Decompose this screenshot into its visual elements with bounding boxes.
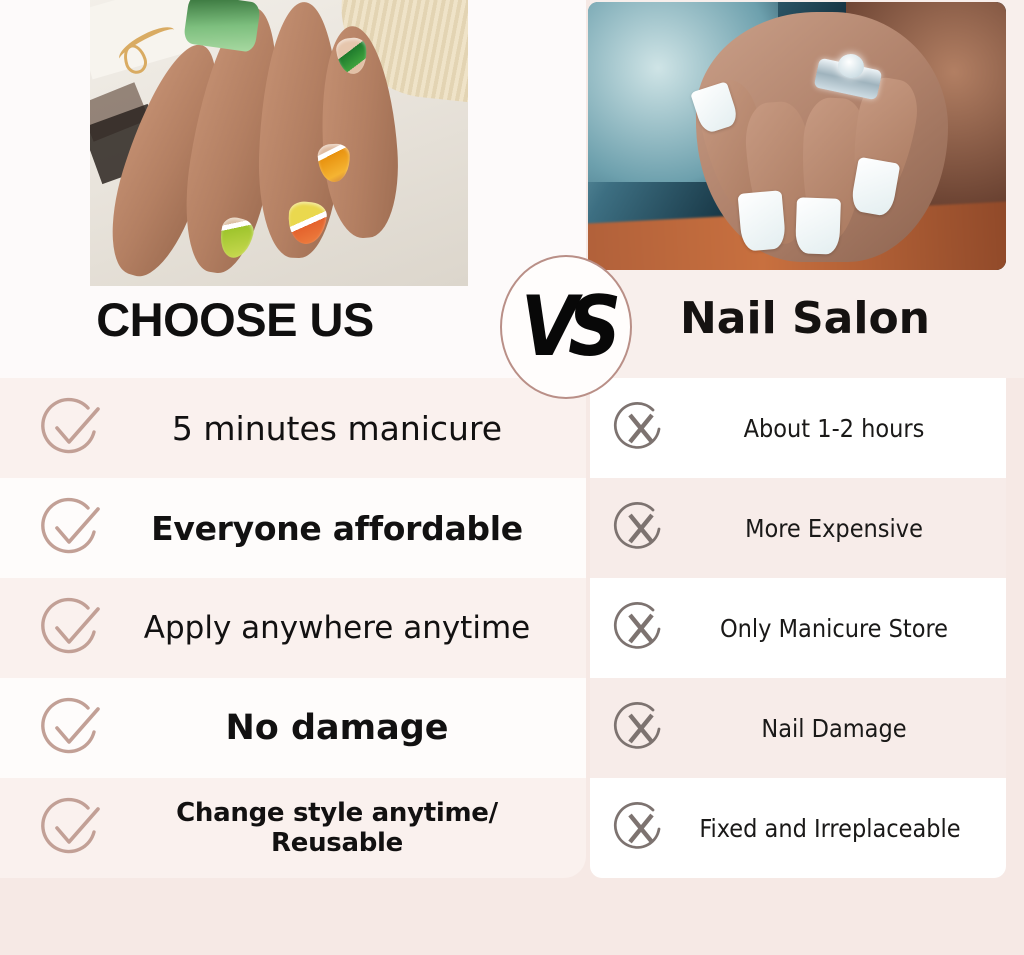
- list-item: Everyone affordable: [0, 478, 586, 578]
- list-item-label: 5 minutes manicure: [108, 409, 586, 448]
- x-circle-icon: [612, 799, 670, 857]
- list-item-label: No damage: [108, 708, 586, 748]
- check-circle-icon: [36, 792, 108, 864]
- cons-column: About 1-2 hours More Expensive Only Mani…: [590, 378, 1006, 878]
- x-circle-icon: [612, 699, 670, 757]
- list-item: About 1-2 hours: [590, 378, 1006, 478]
- list-item: No damage: [0, 678, 586, 778]
- check-circle-icon: [36, 492, 108, 564]
- list-item: More Expensive: [590, 478, 1006, 578]
- list-item-label: Fixed and Irreplaceable: [666, 814, 1006, 843]
- list-item-label: Everyone affordable: [108, 509, 586, 548]
- bottom-background: [0, 890, 1024, 955]
- list-item-label: Apply anywhere anytime: [108, 610, 586, 646]
- list-item-label: More Expensive: [674, 514, 1006, 543]
- list-item-label: About 1-2 hours: [674, 414, 1006, 443]
- check-circle-icon: [36, 392, 108, 464]
- x-circle-icon: [612, 399, 670, 457]
- list-item: Only Manicure Store: [590, 578, 1006, 678]
- comparison-infographic: CHOOSE US Nail Salon VS 5 minutes manicu…: [0, 0, 1024, 955]
- list-item: Nail Damage: [590, 678, 1006, 778]
- list-item-label: Only Manicure Store: [674, 614, 1006, 643]
- right-product-photo: [588, 2, 1006, 270]
- vs-label: VS: [521, 286, 612, 369]
- list-item: Change style anytime/ Reusable: [0, 778, 586, 878]
- right-column-title: Nail Salon: [640, 293, 970, 344]
- pros-column: 5 minutes manicure Everyone affordable A…: [0, 378, 586, 878]
- x-circle-icon: [612, 599, 670, 657]
- list-item: Fixed and Irreplaceable: [590, 778, 1006, 878]
- x-circle-icon: [612, 499, 670, 557]
- vs-badge: VS: [500, 255, 632, 399]
- list-item: 5 minutes manicure: [0, 378, 586, 478]
- left-column-title: CHOOSE US: [0, 292, 470, 347]
- check-circle-icon: [36, 592, 108, 664]
- list-item: Apply anywhere anytime: [0, 578, 586, 678]
- list-item-label: Change style anytime/ Reusable: [108, 798, 586, 858]
- check-circle-icon: [36, 692, 108, 764]
- left-product-photo: [90, 0, 468, 286]
- list-item-label: Nail Damage: [674, 714, 1006, 743]
